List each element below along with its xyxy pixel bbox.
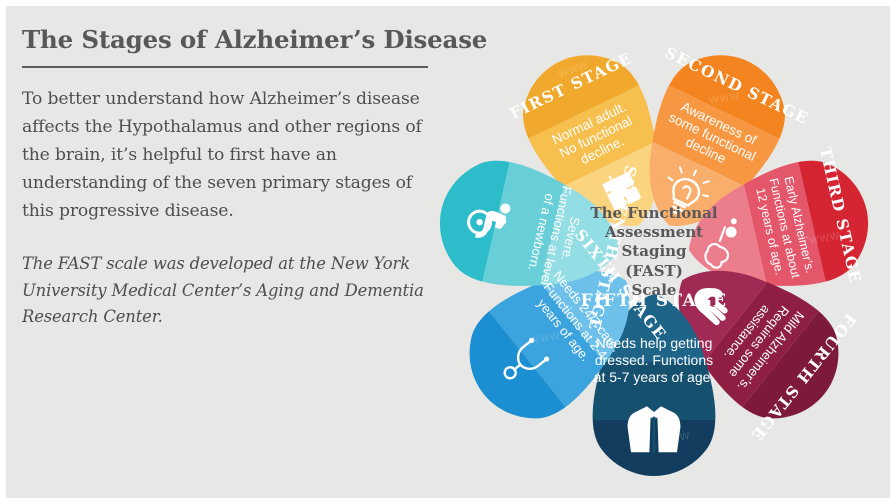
- fast-scale-wheel: FIRST STAGE Normal adult. No functional …: [410, 14, 896, 502]
- stage-desc-fifth-line3: at 5-7 years of age.: [594, 369, 715, 385]
- title-divider: [22, 66, 428, 68]
- intro-paragraph: To better understand how Alzheimer’s dis…: [22, 86, 432, 225]
- infographic-canvas: The Stages of Alzheimer’s Disease To bet…: [0, 0, 896, 504]
- page-title: The Stages of Alzheimer’s Disease: [22, 26, 432, 54]
- intro-panel: The Stages of Alzheimer’s Disease To bet…: [22, 26, 432, 330]
- wheel-svg: FIRST STAGE Normal adult. No functional …: [410, 14, 896, 502]
- fast-scale-note: The FAST scale was developed at the New …: [22, 251, 432, 330]
